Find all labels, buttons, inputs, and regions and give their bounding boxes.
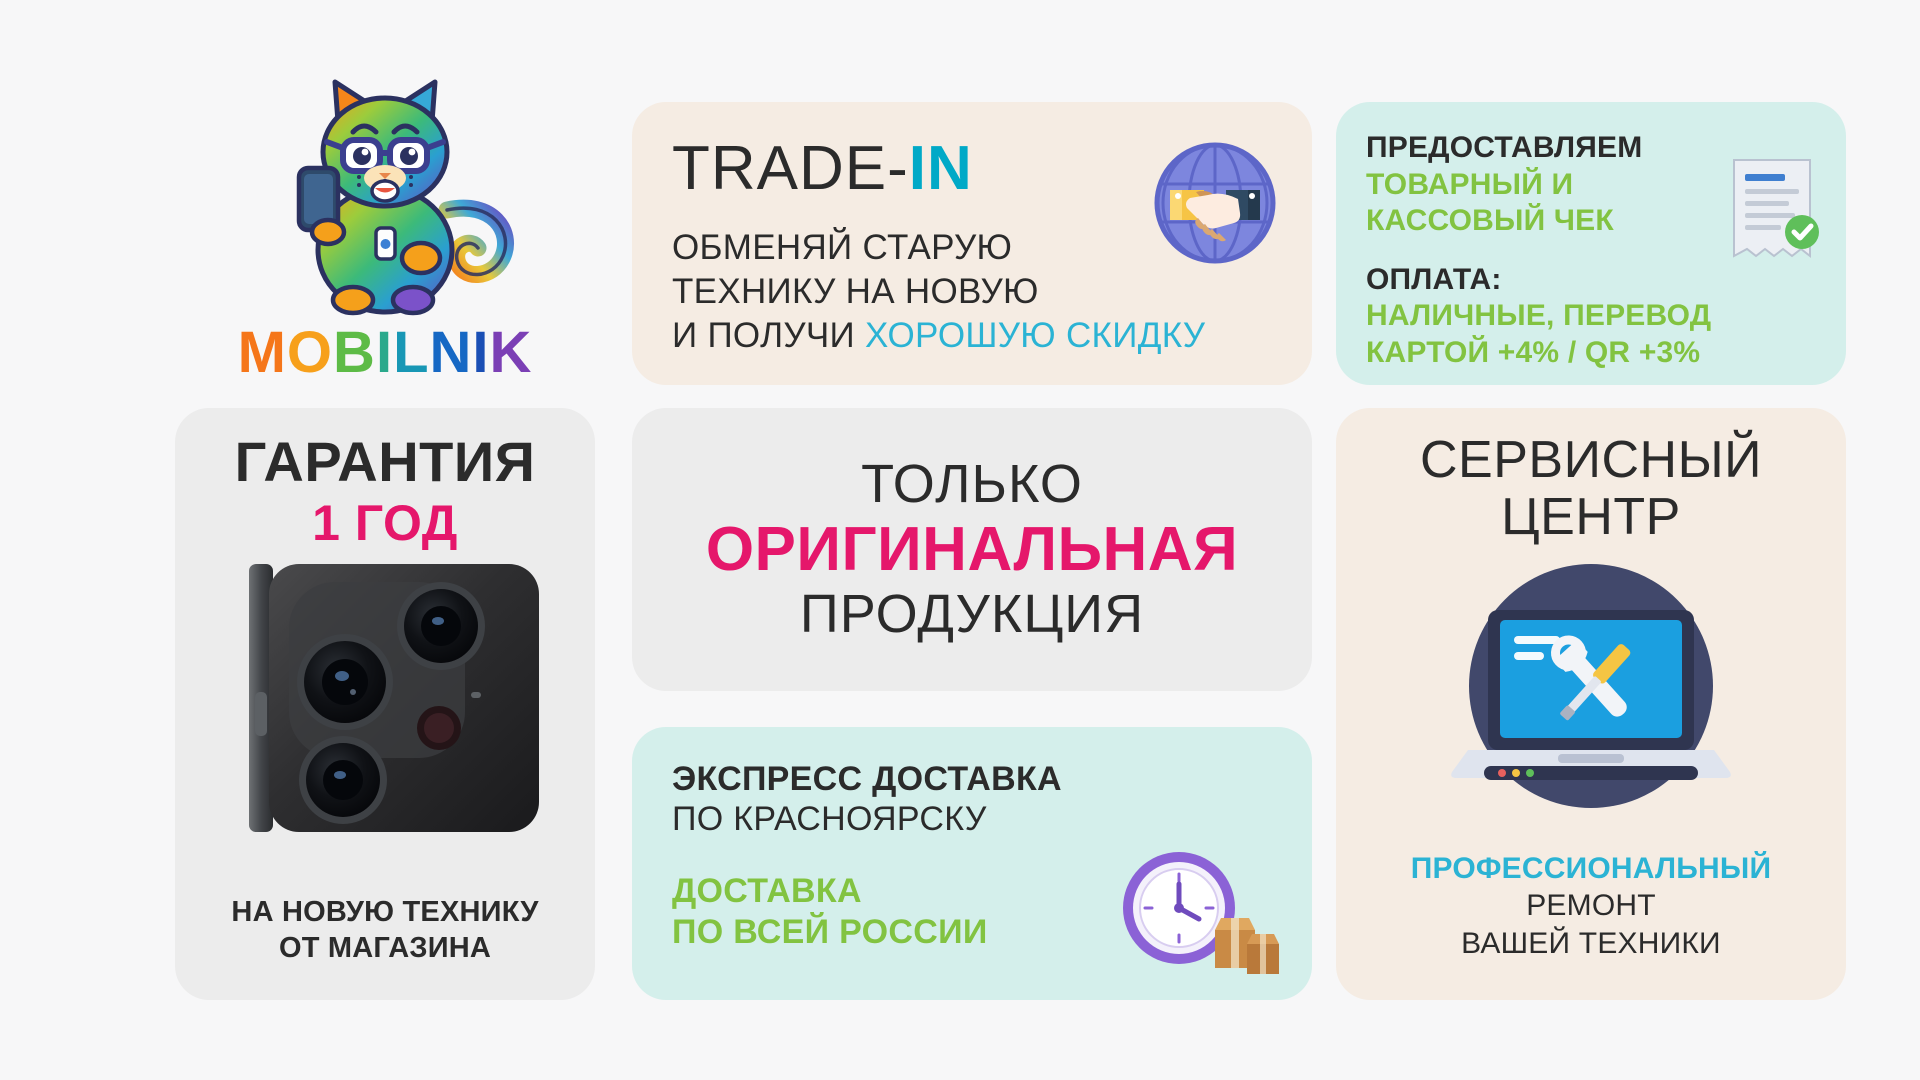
guarantee-footer: НА НОВУЮ ТЕХНИКУ ОТ МАГАЗИНА	[175, 894, 595, 967]
receipt-line-6: КАРТОЙ +4% / QR +3%	[1366, 335, 1816, 372]
iphone-pro-camera-photo	[215, 564, 555, 832]
trade-in-title-accent: IN	[909, 134, 973, 203]
trade-in-line-3-accent: ХОРОШУЮ СКИДКУ	[865, 316, 1205, 355]
card-original-products[interactable]: ТОЛЬКО ОРИГИНАЛЬНАЯ ПРОДУКЦИЯ	[632, 408, 1312, 691]
guarantee-term: 1 ГОД	[195, 490, 575, 558]
service-foot-line-2: РЕМОНТ	[1336, 887, 1846, 925]
guarantee-foot-line-1: НА НОВУЮ ТЕХНИКУ	[175, 894, 595, 930]
brand-wordmark: MOBILNIK	[238, 324, 533, 382]
card-receipts-payment[interactable]: ПРЕДОСТАВЛЯЕМ ТОВАРНЫЙ И КАССОВЫЙ ЧЕК ОП…	[1336, 102, 1846, 385]
brand-logo-block: MOBILNIK	[175, 60, 595, 390]
card-trade-in[interactable]: TRADE-IN ОБМЕНЯЙ СТАРУЮ ТЕХНИКУ НА НОВУЮ…	[632, 102, 1312, 385]
rainbow-cat-with-phone-icon	[235, 60, 535, 330]
trade-in-line-3-plain: И ПОЛУЧИ	[672, 316, 865, 355]
service-footer: ПРОФЕССИОНАЛЬНЫЙ РЕМОНТ ВАШЕЙ ТЕХНИКИ	[1336, 850, 1846, 963]
wordmark-letter-0: M	[238, 324, 287, 382]
original-line-2: ОРИГИНАЛЬНАЯ	[706, 515, 1238, 584]
wordmark-letter-4: L	[393, 324, 429, 382]
laptop-repair-tools-icon	[1426, 558, 1756, 828]
delivery-headline: ЭКСПРЕСС ДОСТАВКА	[672, 761, 1272, 798]
poster-canvas: MOBILNIK TRADE-IN ОБМЕНЯЙ СТАРУЮ ТЕХНИКУ…	[0, 0, 1920, 1080]
clock-parcels-icon	[1111, 836, 1286, 986]
guarantee-title: ГАРАНТИЯ	[195, 434, 575, 490]
handshake-globe-icon	[1150, 138, 1280, 268]
card-delivery[interactable]: ЭКСПРЕСС ДОСТАВКА ПО КРАСНОЯРСКУ ДОСТАВК…	[632, 727, 1312, 1000]
delivery-subline: ПО КРАСНОЯРСКУ	[672, 798, 1272, 841]
original-line-1: ТОЛЬКО	[861, 454, 1083, 514]
service-foot-accent: ПРОФЕССИОНАЛЬНЫЙ	[1336, 850, 1846, 888]
receipt-line-5: НАЛИЧНЫЕ, ПЕРЕВОД	[1366, 298, 1816, 335]
receipt-check-icon	[1718, 154, 1826, 276]
wordmark-letter-3: I	[376, 324, 393, 382]
card-service-center[interactable]: СЕРВИСНЫЙ ЦЕНТР	[1336, 408, 1846, 1000]
service-title-line-2: ЦЕНТР	[1356, 489, 1826, 546]
trade-in-line-2: ТЕХНИКУ НА НОВУЮ	[672, 270, 1272, 314]
wordmark-letter-5: N	[430, 324, 473, 382]
wordmark-letter-2: B	[333, 324, 376, 382]
wordmark-letter-1: O	[287, 324, 333, 382]
card-guarantee[interactable]: ГАРАНТИЯ 1 ГОД	[175, 408, 595, 1000]
service-title-line-1: СЕРВИСНЫЙ	[1356, 432, 1826, 489]
guarantee-foot-line-2: ОТ МАГАЗИНА	[175, 930, 595, 966]
trade-in-line-3: И ПОЛУЧИ ХОРОШУЮ СКИДКУ	[672, 314, 1272, 358]
trade-in-title-main: TRADE-	[672, 134, 909, 203]
original-line-3: ПРОДУКЦИЯ	[800, 584, 1144, 644]
wordmark-letter-7: K	[490, 324, 533, 382]
wordmark-letter-6: I	[472, 324, 489, 382]
service-foot-line-3: ВАШЕЙ ТЕХНИКИ	[1336, 925, 1846, 963]
